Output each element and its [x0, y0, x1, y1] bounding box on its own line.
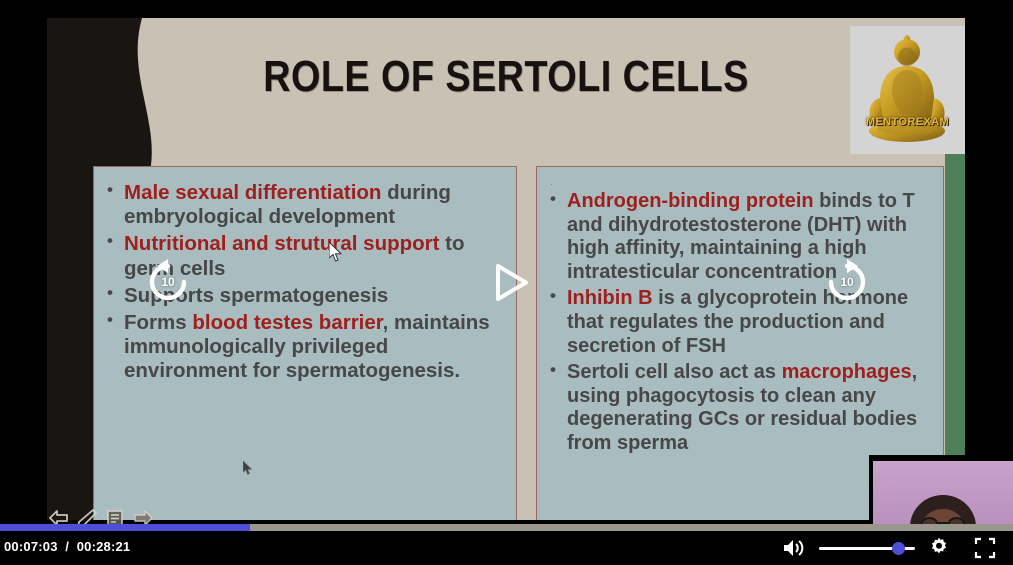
progress-bar[interactable]: [0, 524, 1013, 531]
left-content-panel: Male sexual differentiation during embry…: [93, 166, 517, 520]
list-item: Sertoli cell also act as macrophages, us…: [547, 361, 927, 455]
volume-button[interactable]: [777, 531, 811, 565]
buddha-statue-icon: [850, 26, 965, 154]
bullet-text-pre: Forms: [124, 311, 192, 334]
time-separator: /: [58, 539, 77, 554]
presenter-webcam[interactable]: [869, 455, 1013, 531]
bullet-highlight: Male sexual differentiation: [124, 181, 381, 204]
time-display: 00:07:03 / 00:28:21: [4, 539, 130, 554]
right-bullet-list: Androgen-binding protein binds to T and …: [547, 190, 927, 456]
mouse-cursor: [329, 242, 343, 262]
right-controls: [777, 531, 1005, 565]
current-time: 00:07:03: [4, 539, 58, 554]
forward-10-button[interactable]: 10: [822, 257, 872, 307]
bullet-highlight: Androgen-binding protein: [567, 190, 814, 212]
rewind-10-button[interactable]: 10: [143, 257, 193, 307]
bullet-highlight: macrophages: [782, 361, 912, 383]
forward-seconds-label: 10: [822, 257, 872, 307]
bullet-highlight: Nutritional and strutural support: [124, 232, 439, 255]
panel-stray-dot: ·: [550, 181, 927, 189]
list-item: Forms blood testes barrier, maintains im…: [104, 311, 500, 384]
volume-knob[interactable]: [892, 542, 905, 555]
progress-played: [0, 524, 250, 531]
settings-button[interactable]: [919, 531, 959, 565]
player-control-bar: 00:07:03 / 00:28:21: [0, 531, 1013, 565]
list-item: Male sexual differentiation during embry…: [104, 181, 500, 229]
fullscreen-icon: [974, 537, 996, 559]
play-icon: [490, 261, 530, 304]
total-time: 00:28:21: [77, 539, 131, 554]
slide-title: ROLE OF SERTOLI CELLS: [111, 52, 900, 102]
bullet-highlight: blood testes barrier: [192, 311, 382, 334]
rewind-seconds-label: 10: [143, 257, 193, 307]
secondary-cursor: [243, 461, 253, 475]
brand-logo-wordmark: MENTOREXAM: [850, 116, 965, 128]
video-player: ROLE OF SERTOLI CELLS: [0, 0, 1013, 565]
volume-high-icon: [782, 537, 806, 559]
gear-icon: [927, 536, 951, 560]
brand-logo: MENTOREXAM: [850, 26, 965, 154]
volume-slider[interactable]: [819, 531, 915, 565]
video-stage[interactable]: ROLE OF SERTOLI CELLS: [0, 0, 1013, 531]
bullet-text-pre: Sertoli cell also act as: [567, 361, 782, 383]
fullscreen-button[interactable]: [965, 531, 1005, 565]
play-button[interactable]: [490, 261, 530, 304]
bullet-highlight: Inhibin B: [567, 287, 653, 309]
